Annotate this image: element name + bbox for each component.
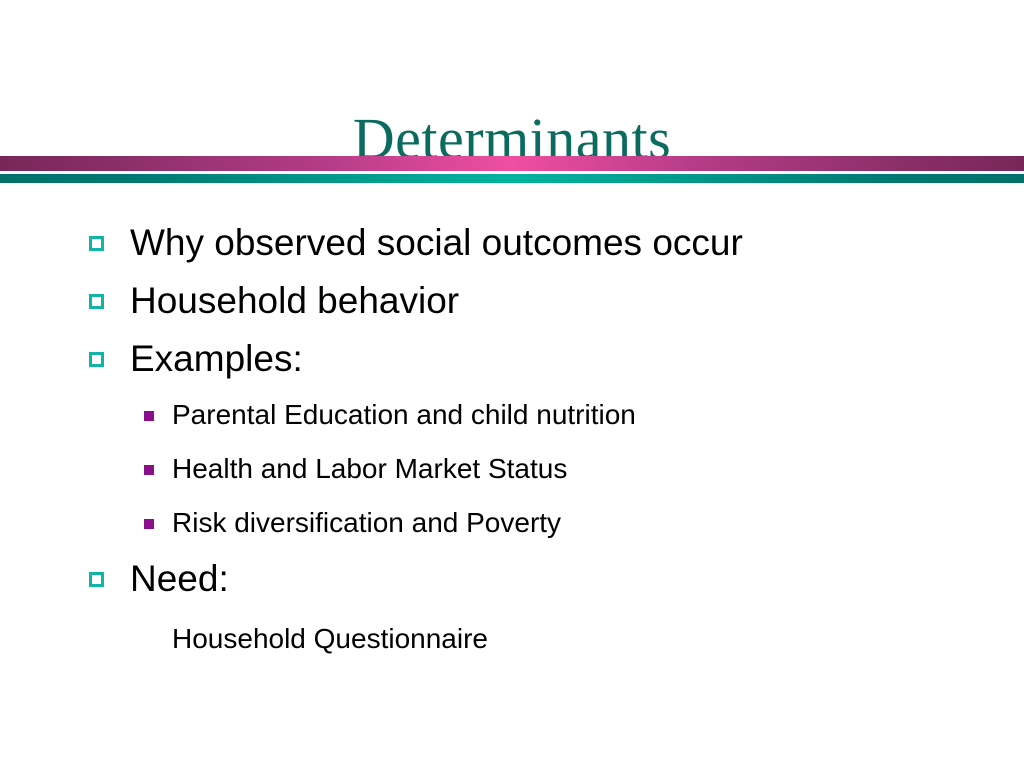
slide-body: Why observed social outcomes occur House… <box>0 214 1024 666</box>
list-item: Health and Labor Market Status <box>0 442 1024 496</box>
bullet-list: Why observed social outcomes occur House… <box>0 214 1024 666</box>
divider-bar-teal <box>0 174 1024 183</box>
square-hollow-icon <box>89 236 104 251</box>
square-hollow-icon <box>89 352 104 367</box>
list-item: Why observed social outcomes occur <box>0 214 1024 272</box>
list-item-label: Risk diversification and Poverty <box>172 507 561 538</box>
divider-bar-pink <box>0 156 1024 171</box>
square-filled-icon <box>144 519 154 529</box>
list-item: Risk diversification and Poverty <box>0 496 1024 550</box>
list-item-label: Parental Education and child nutrition <box>172 399 636 430</box>
title-area: Determinants <box>0 66 1024 212</box>
list-item-label: Examples: <box>130 330 303 388</box>
slide-canvas: Determinants Why observed social outcome… <box>0 0 1024 768</box>
list-item: Parental Education and child nutrition <box>0 388 1024 442</box>
list-item: Household behavior <box>0 272 1024 330</box>
list-item-label: Household behavior <box>130 272 459 330</box>
square-hollow-icon <box>89 294 104 309</box>
need-detail-text: Household Questionnaire <box>0 612 1024 666</box>
list-item-label: Need: <box>130 550 229 608</box>
square-filled-icon <box>144 411 154 421</box>
sublist-container: Parental Education and child nutrition H… <box>0 388 1024 550</box>
list-item-label: Why observed social outcomes occur <box>130 214 743 272</box>
list-item-label: Health and Labor Market Status <box>172 453 567 484</box>
square-filled-icon <box>144 465 154 475</box>
list-item: Need: <box>0 550 1024 608</box>
square-hollow-icon <box>89 572 104 587</box>
list-item: Examples: <box>0 330 1024 388</box>
sublist: Parental Education and child nutrition H… <box>0 388 1024 550</box>
